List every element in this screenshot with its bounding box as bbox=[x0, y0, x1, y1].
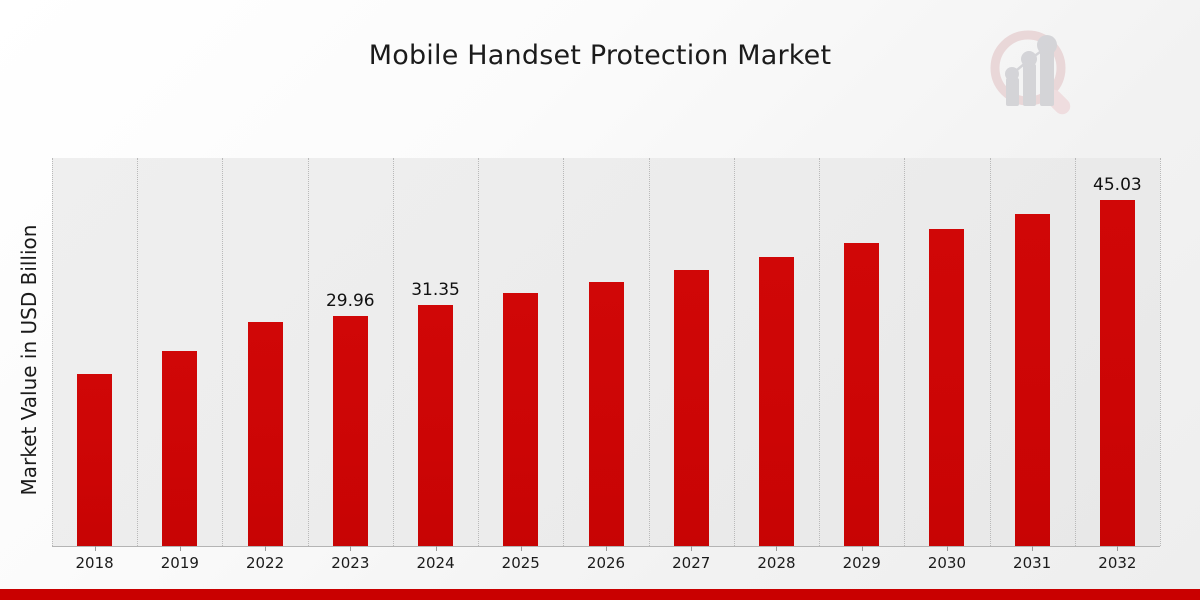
page-title: Mobile Handset Protection Market bbox=[0, 40, 1200, 71]
bar-2027[interactable] bbox=[674, 270, 709, 546]
x-tick bbox=[776, 546, 777, 551]
x-tick-label-2031: 2031 bbox=[987, 554, 1077, 572]
gridline bbox=[990, 158, 992, 546]
gridline bbox=[563, 158, 565, 546]
x-tick-label-2018: 2018 bbox=[50, 554, 140, 572]
x-tick bbox=[350, 546, 351, 551]
x-tick bbox=[1117, 546, 1118, 551]
chart-canvas: Mobile Handset Protection Market Market … bbox=[0, 0, 1200, 600]
gridline bbox=[52, 158, 54, 546]
bottom-accent-band bbox=[0, 589, 1200, 600]
x-tick bbox=[265, 546, 266, 551]
x-tick-label-2029: 2029 bbox=[817, 554, 907, 572]
gridline bbox=[734, 158, 736, 546]
x-tick bbox=[862, 546, 863, 551]
x-tick-label-2026: 2026 bbox=[561, 554, 651, 572]
x-tick-label-2027: 2027 bbox=[646, 554, 736, 572]
plot-area bbox=[52, 158, 1160, 546]
x-tick-label-2024: 2024 bbox=[391, 554, 481, 572]
x-tick-label-2028: 2028 bbox=[731, 554, 821, 572]
x-tick bbox=[180, 546, 181, 551]
x-tick-label-2032: 2032 bbox=[1072, 554, 1162, 572]
x-tick-label-2022: 2022 bbox=[220, 554, 310, 572]
gridline bbox=[393, 158, 395, 546]
market-research-magnifier-logo-icon bbox=[980, 22, 1090, 122]
x-tick bbox=[436, 546, 437, 551]
bar-2025[interactable] bbox=[503, 293, 538, 546]
x-tick bbox=[947, 546, 948, 551]
bar-2029[interactable] bbox=[844, 243, 879, 546]
x-tick-label-2025: 2025 bbox=[476, 554, 566, 572]
x-tick bbox=[95, 546, 96, 551]
x-tick-label-2023: 2023 bbox=[305, 554, 395, 572]
gridline bbox=[478, 158, 480, 546]
gridline bbox=[649, 158, 651, 546]
bar-value-label-2032: 45.03 bbox=[1072, 175, 1162, 195]
x-tick bbox=[606, 546, 607, 551]
bar-2019[interactable] bbox=[162, 351, 197, 546]
gridline bbox=[137, 158, 139, 546]
gridline bbox=[904, 158, 906, 546]
gridline bbox=[819, 158, 821, 546]
x-tick-label-2019: 2019 bbox=[135, 554, 225, 572]
bar-2026[interactable] bbox=[589, 282, 624, 546]
x-tick bbox=[1032, 546, 1033, 551]
x-tick-label-2030: 2030 bbox=[902, 554, 992, 572]
gridline bbox=[308, 158, 310, 546]
gridline bbox=[1160, 158, 1162, 546]
x-tick bbox=[521, 546, 522, 551]
y-axis-title: Market Value in USD Billion bbox=[17, 165, 41, 555]
bar-2032[interactable] bbox=[1100, 200, 1135, 546]
bar-value-label-2024: 31.35 bbox=[391, 280, 481, 300]
bar-2031[interactable] bbox=[1015, 214, 1050, 546]
x-tick bbox=[691, 546, 692, 551]
bar-2028[interactable] bbox=[759, 257, 794, 546]
bar-2018[interactable] bbox=[77, 374, 112, 546]
bar-2030[interactable] bbox=[929, 229, 964, 546]
bar-2022[interactable] bbox=[248, 322, 283, 546]
bar-2024[interactable] bbox=[418, 305, 453, 546]
bar-2023[interactable] bbox=[333, 316, 368, 546]
gridline bbox=[1075, 158, 1077, 546]
gridline bbox=[222, 158, 224, 546]
bar-value-label-2023: 29.96 bbox=[305, 291, 395, 311]
